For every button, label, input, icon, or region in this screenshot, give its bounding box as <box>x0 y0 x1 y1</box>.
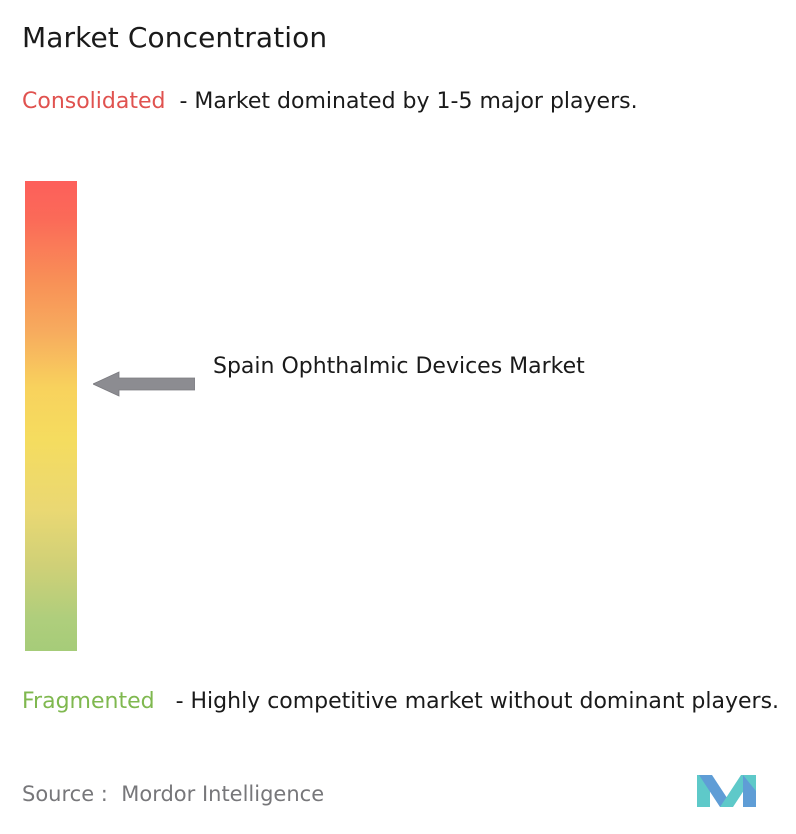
market-callout: Spain Ophthalmic Devices Market <box>93 349 713 421</box>
legend-fragmented: Fragmented - Highly competitive market w… <box>22 686 782 717</box>
legend-fragmented-keyword: Fragmented <box>22 689 155 714</box>
left-arrow-icon <box>93 371 195 397</box>
concentration-gradient-bar <box>25 181 77 651</box>
source-label: Source : Mordor Intelligence <box>22 782 324 806</box>
callout-label: Spain Ophthalmic Devices Market <box>213 349 693 385</box>
mordor-intelligence-logo-icon <box>697 771 769 811</box>
legend-consolidated: Consolidated - Market dominated by 1-5 m… <box>22 86 774 117</box>
legend-consolidated-separator <box>165 89 179 114</box>
legend-fragmented-separator <box>155 689 176 714</box>
legend-consolidated-keyword: Consolidated <box>22 89 165 114</box>
page-title: Market Concentration <box>22 21 327 54</box>
legend-consolidated-description: - Market dominated by 1-5 major players. <box>179 89 637 114</box>
legend-fragmented-description: - Highly competitive market without domi… <box>176 689 779 714</box>
market-concentration-figure: Market Concentration Consolidated - Mark… <box>0 0 796 834</box>
